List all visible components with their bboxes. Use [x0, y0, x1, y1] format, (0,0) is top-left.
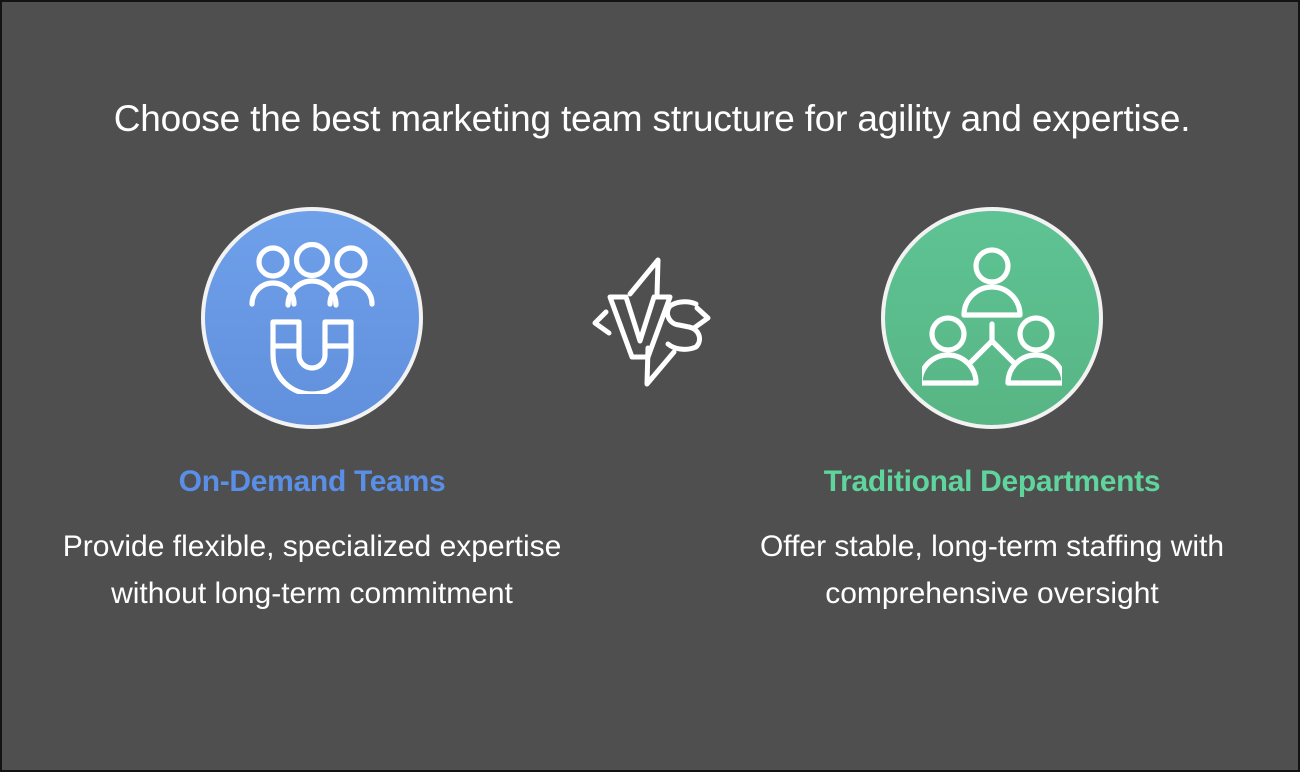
- vs-separator: [572, 207, 732, 390]
- option-icon-badge-left: [201, 207, 423, 429]
- option-description-on-demand-teams: Provide flexible, specialized expertise …: [57, 523, 567, 618]
- option-icon-badge-right: [881, 207, 1103, 429]
- option-card-on-demand-teams[interactable]: On-Demand Teams Provide flexible, specia…: [52, 207, 572, 618]
- page-title: Choose the best marketing team structure…: [2, 97, 1300, 141]
- option-title-on-demand-teams: On-Demand Teams: [179, 465, 446, 499]
- org-hierarchy-people-icon: [922, 246, 1062, 390]
- vs-sparkle-icon: [586, 252, 718, 390]
- option-title-traditional-departments: Traditional Departments: [824, 465, 1161, 499]
- magnet-with-people-icon: [246, 242, 378, 394]
- option-description-traditional-departments: Offer stable, long-term staffing with co…: [737, 523, 1247, 618]
- slide-canvas: Choose the best marketing team structure…: [0, 0, 1300, 772]
- comparison-columns: On-Demand Teams Provide flexible, specia…: [2, 207, 1300, 618]
- option-card-traditional-departments[interactable]: Traditional Departments Offer stable, lo…: [732, 207, 1252, 618]
